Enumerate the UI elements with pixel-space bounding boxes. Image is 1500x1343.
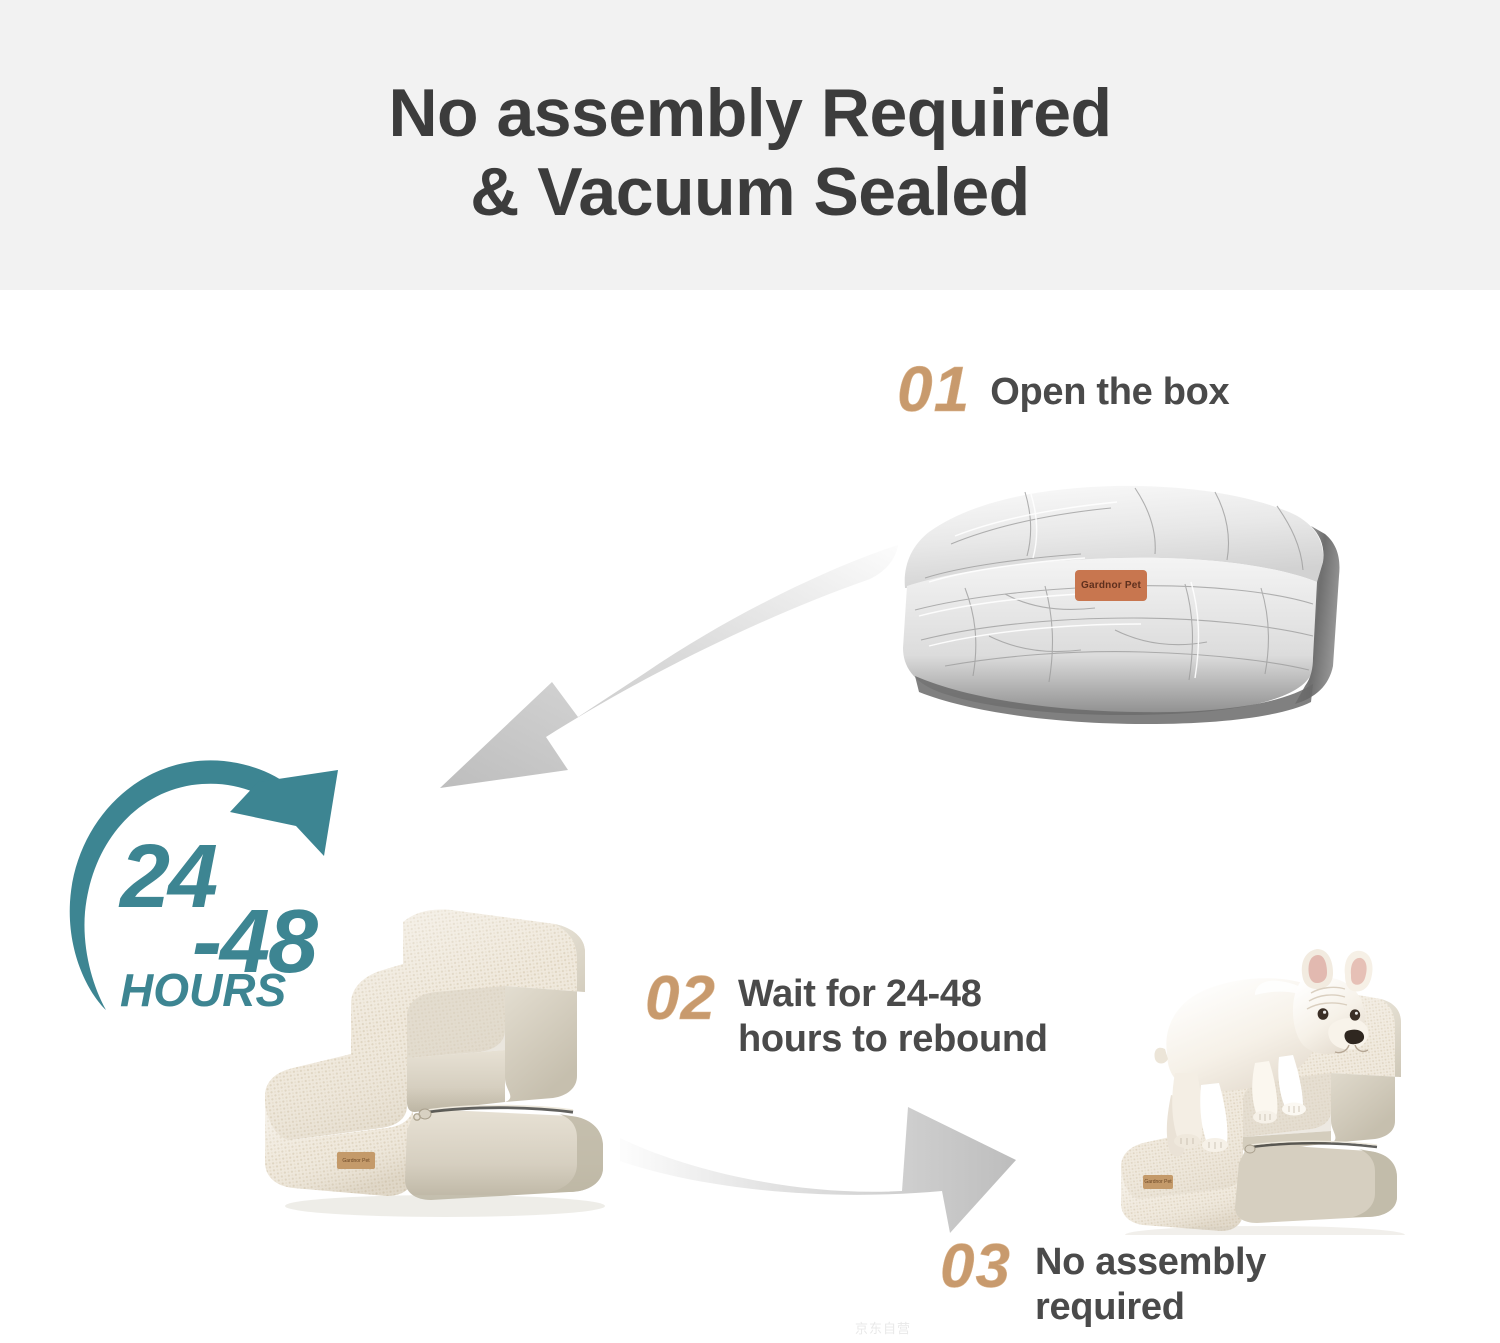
- pet-stairs-with-dog: Gardnor Pet: [1105, 945, 1425, 1235]
- step-03: 03 No assembly required: [940, 1236, 1266, 1330]
- page-title-line2: & Vacuum Sealed: [0, 153, 1500, 232]
- page-title-line1: No assembly Required: [388, 75, 1111, 151]
- product-brand-tag-dog: Gardnor Pet: [1143, 1175, 1173, 1189]
- dog-on-stairs-illustration: [1105, 945, 1425, 1235]
- step-01-number: 01: [897, 358, 970, 420]
- header-band: No assembly Required & Vacuum Sealed: [0, 0, 1500, 290]
- watermark: 京东自营: [855, 1318, 911, 1337]
- arrow-stairs-to-dog-icon: [620, 1075, 1020, 1240]
- infographic-page: No assembly Required & Vacuum Sealed 01 …: [0, 0, 1500, 1343]
- step-03-number: 03: [940, 1236, 1011, 1298]
- vacuum-sealed-package: Gardnor Pet: [885, 470, 1345, 730]
- step-01-label: Open the box: [990, 370, 1229, 415]
- step-02-label: Wait for 24-48 hours to rebound: [738, 972, 1048, 1062]
- step-03-label-line2: required: [1035, 1286, 1185, 1328]
- package-brand-label: Gardnor Pet: [1075, 570, 1147, 601]
- page-title: No assembly Required & Vacuum Sealed: [0, 74, 1500, 232]
- step-03-label: No assembly required: [1035, 1240, 1266, 1330]
- product-brand-tag: Gardnor Pet: [337, 1152, 375, 1169]
- step-03-label-line1: No assembly: [1035, 1241, 1266, 1283]
- arrow-box-to-stairs-icon: [400, 545, 900, 835]
- step-01: 01 Open the box: [897, 358, 1229, 420]
- step-02-label-line2: hours to rebound: [738, 1018, 1048, 1060]
- step-02-label-line1: Wait for 24-48: [738, 973, 982, 1015]
- pet-stairs-illustration: [255, 900, 675, 1220]
- pet-stairs-product: Gardnor Pet: [255, 900, 675, 1220]
- step-02: 02 Wait for 24-48 hours to rebound: [645, 968, 1048, 1062]
